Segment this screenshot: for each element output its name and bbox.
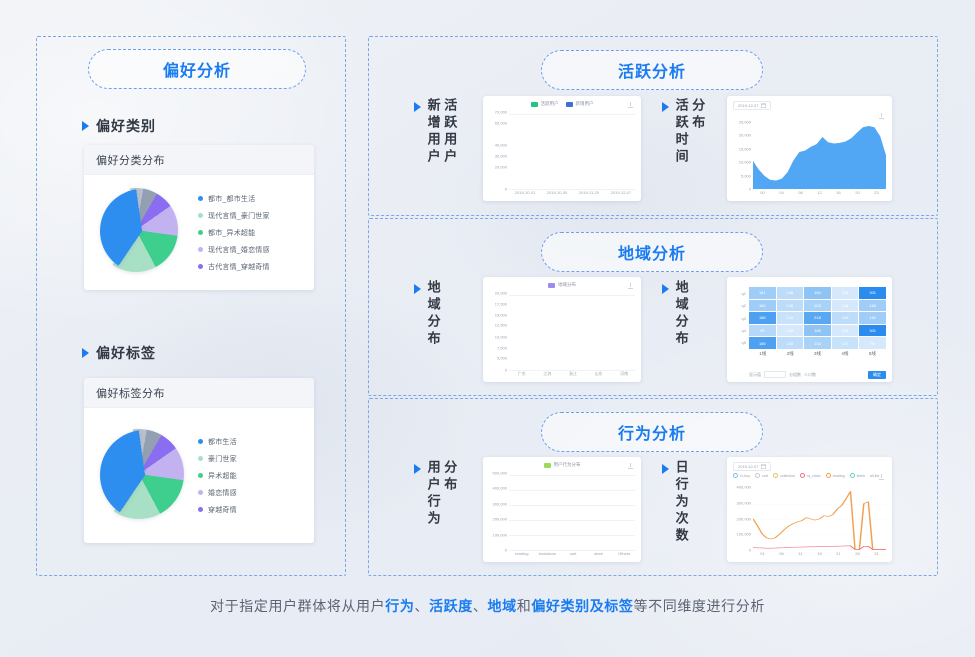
card-active-users-bar[interactable]: 活跃用户 新增用户 70,000 60,000 40,000 30,000 20… xyxy=(483,96,641,201)
bar-series xyxy=(509,475,635,550)
y-tick: 60,000 xyxy=(495,120,507,125)
x-label: 2线 xyxy=(776,351,803,360)
heat-cell: 184 xyxy=(804,287,831,299)
triangle-bullet-icon xyxy=(662,284,669,294)
chart-legend: 地域分布 xyxy=(483,282,641,288)
x-axis: reading bookstore cart store Others xyxy=(509,551,637,560)
x-tick: 浙江 xyxy=(560,371,586,380)
legend-item[interactable]: rq_close xyxy=(800,473,821,478)
legend-dot-icon xyxy=(773,473,778,478)
vlabel-active-time-distribution: 活跃时间 分布 xyxy=(662,98,704,166)
heat-cell: 163 xyxy=(804,300,831,312)
heat-cell: 118 xyxy=(832,300,859,312)
legend-dot-icon xyxy=(198,507,203,512)
legend-label: reading xyxy=(833,474,845,478)
y-tick: 300,000 xyxy=(737,500,751,505)
area-chart-active-time xyxy=(753,124,886,189)
plot-area xyxy=(753,489,886,550)
page-caption: 对于指定用户群体将从用户行为、活跃度、地域和偏好类别及标签等不同维度进行分析 xyxy=(0,596,975,616)
legend-dot-icon xyxy=(198,264,203,269)
heat-cell: 146 xyxy=(777,287,804,299)
card-behavior-line[interactable]: 2019-12-07 t1-buy cart collection rq_clo… xyxy=(727,457,892,562)
y-label: q5 xyxy=(730,337,748,349)
legend-label: 活跃用户 xyxy=(541,101,559,107)
y-tick: 15,000 xyxy=(495,312,507,317)
vlabel-col: 分布 xyxy=(443,460,457,528)
card-title: 偏好分类分布 xyxy=(84,145,314,175)
x-label: 4线 xyxy=(831,351,858,360)
y-label: q2 xyxy=(730,299,748,311)
heat-cell: 186 xyxy=(749,337,776,349)
chart-legend: t1-buy cart collection rq_close reading … xyxy=(733,473,886,478)
x-tick: 23 xyxy=(867,190,886,199)
x-tick: 河南 xyxy=(611,371,637,380)
heatmap-grid: 161 146 184 119 301 164 146 163 118 165 … xyxy=(749,287,886,349)
x-tick: bookstore xyxy=(535,551,561,560)
x-tick: 26 xyxy=(848,551,867,560)
legend-item[interactable]: all-list xyxy=(870,474,879,478)
legend-dot-icon xyxy=(198,473,203,478)
legend-dot-icon xyxy=(198,196,203,201)
caption-part: 、 xyxy=(414,598,429,614)
legend-dot-icon xyxy=(198,456,203,461)
x-tick: 16 xyxy=(829,190,848,199)
legend-item: 新增用户 xyxy=(566,101,594,107)
section-pill-region: 地域分析 xyxy=(541,232,763,272)
legend-swatch-icon xyxy=(531,102,538,107)
vertical-columns: 地域分布 xyxy=(674,280,688,348)
card-preference-category[interactable]: 偏好分类分布 都市_都市生活 现代言情_豪门世家 xyxy=(84,145,314,290)
x-label: 5线 xyxy=(859,351,886,360)
vertical-columns: 用户行为 分布 xyxy=(426,460,456,528)
heat-cell: 134 xyxy=(832,325,859,337)
heat-cell: 145 xyxy=(777,312,804,324)
vlabel-col: 用户行为 xyxy=(426,460,440,528)
legend-label: 婚恋情感 xyxy=(208,488,237,498)
x-tick: 31 xyxy=(867,551,886,560)
y-tick: 15,000 xyxy=(739,146,751,151)
vertical-columns: 活跃时间 分布 xyxy=(674,98,704,166)
legend-dot-icon xyxy=(198,230,203,235)
x-tick: 21 xyxy=(829,551,848,560)
x-tick: 山东 xyxy=(586,371,612,380)
vlabel-col: 活跃时间 xyxy=(674,98,688,166)
legend-label: 异术超能 xyxy=(208,471,237,481)
legend-label: rq_close xyxy=(807,474,821,478)
y-label: q3 xyxy=(730,312,748,324)
x-tick: 2019-10-01 xyxy=(509,190,541,199)
heatmap-controls: 显示值 分组数 人口数 确定 xyxy=(749,370,886,379)
vlabel-col: 地域分布 xyxy=(674,280,688,348)
legend-dot-icon xyxy=(733,473,738,478)
legend-item: 豪门世家 xyxy=(198,454,237,464)
y-tick: 17,500 xyxy=(495,301,507,306)
triangle-bullet-icon xyxy=(662,102,669,112)
legend-label: 现代言情_豪门世家 xyxy=(208,211,270,221)
heat-cell: 218 xyxy=(804,312,831,324)
legend-item: 地域分布 xyxy=(548,282,576,288)
y-tick: 10,000 xyxy=(495,334,507,339)
y-tick: 500,000 xyxy=(493,471,507,476)
legend-swatch-icon xyxy=(566,102,573,107)
vertical-columns: 日行为次数 xyxy=(674,460,688,545)
legend-swatch-icon xyxy=(548,283,555,288)
date-value: 2019-12-07 xyxy=(738,103,758,108)
y-label: q1 xyxy=(730,287,748,299)
legend-item: 活跃用户 xyxy=(531,101,559,107)
y-tick: 70,000 xyxy=(495,110,507,115)
plot-area xyxy=(509,295,635,370)
legend-dot-icon xyxy=(826,473,831,478)
heatmap-x-labels: 1线 2线 3线 4线 5线 xyxy=(749,351,886,360)
legend-dot-icon xyxy=(850,473,855,478)
plot-area xyxy=(753,124,886,189)
legend-label: 古代言情_穿越奇情 xyxy=(208,262,270,272)
x-axis: 2019-10-01 2019-10-30 2019-11-20 2019-12… xyxy=(509,190,637,199)
y-tick: 300,000 xyxy=(493,501,507,506)
heat-cell: 95 xyxy=(749,325,776,337)
x-tick: 20 xyxy=(848,190,867,199)
y-tick: 30,000 xyxy=(495,153,507,158)
vertical-columns: 新增用户 活跃用户 xyxy=(426,98,456,166)
triangle-bullet-icon xyxy=(82,121,89,131)
x-tick: reading xyxy=(509,551,535,560)
legend-label: 地域分布 xyxy=(558,282,576,288)
legend-label: 都市_都市生活 xyxy=(208,194,255,204)
bar-series xyxy=(509,114,635,189)
vlabel-col: 日行为次数 xyxy=(674,460,688,545)
pie-wrap: 都市生活 豪门世家 异术超能 婚恋情感 xyxy=(84,408,314,543)
legend-label: 穿越奇情 xyxy=(208,505,237,515)
calendar-icon xyxy=(761,103,766,108)
legend-item: 现代言情_婚恋情感 xyxy=(198,245,270,255)
download-icon[interactable] xyxy=(628,102,634,109)
triangle-bullet-icon xyxy=(414,102,421,112)
x-tick: 00 xyxy=(753,190,772,199)
heat-cell: 186 xyxy=(749,312,776,324)
legend-item[interactable]: collection xyxy=(773,473,795,478)
card-region-bar[interactable]: 地域分布 20,000 17,500 15,000 12,500 10,000 … xyxy=(483,277,641,382)
legend-label: collection xyxy=(780,474,795,478)
x-tick: store xyxy=(586,551,612,560)
x-label: 3线 xyxy=(804,351,831,360)
pie-slice-exploded xyxy=(100,430,190,520)
date-value: 2019-12-07 xyxy=(738,464,758,469)
caption-highlight: 活跃度 xyxy=(429,598,473,614)
section-pill-behavior: 行为分析 xyxy=(541,412,763,452)
y-tick: 0 xyxy=(749,187,751,192)
heat-cell: 165 xyxy=(859,300,886,312)
y-axis: 20,000 17,500 15,000 12,500 10,000 7,500… xyxy=(486,293,508,370)
heat-cell: 301 xyxy=(859,287,886,299)
y-tick: 20,000 xyxy=(739,133,751,138)
heat-cell: 186 xyxy=(804,325,831,337)
triangle-bullet-icon xyxy=(82,348,89,358)
y-axis: 25,000 20,000 15,000 10,000 5,000 0 xyxy=(730,122,752,189)
triangle-bullet-icon xyxy=(414,464,421,474)
legend-item: 都市_异术超能 xyxy=(198,228,270,238)
x-tick: Others xyxy=(611,551,637,560)
x-tick: 2019-12-07 xyxy=(605,190,637,199)
caption-highlight: 偏好类别及标签 xyxy=(531,598,633,614)
y-tick: 12,500 xyxy=(495,323,507,328)
legend-label: finish xyxy=(857,474,865,478)
y-tick: 7,500 xyxy=(497,345,507,350)
vlabel-new-active-users: 新增用户 活跃用户 xyxy=(414,98,456,166)
x-tick: 11 xyxy=(791,551,810,560)
legend-dot-icon xyxy=(198,439,203,444)
section-pill-active: 活跃分析 xyxy=(541,50,763,90)
heat-cell: 145 xyxy=(777,337,804,349)
caption-highlight: 地域 xyxy=(488,598,517,614)
legend-item: 穿越奇情 xyxy=(198,505,237,515)
y-tick: 400,000 xyxy=(737,485,751,490)
vlabel-col: 活跃用户 xyxy=(443,98,457,166)
x-axis: 01 06 11 16 21 26 31 xyxy=(753,551,886,560)
x-tick: 2019-11-20 xyxy=(573,190,605,199)
x-tick: 16 xyxy=(810,551,829,560)
y-tick: 200,000 xyxy=(737,516,751,521)
x-tick: 广东 xyxy=(509,371,535,380)
legend-item: 婚恋情感 xyxy=(198,488,237,498)
caption-part: 和 xyxy=(517,598,532,614)
y-tick: 20,000 xyxy=(495,291,507,296)
poster-stage: 偏好分析 偏好类别 偏好分类分布 都市_都市生活 现代言情_豪门 xyxy=(0,0,975,657)
y-tick: 100,000 xyxy=(737,532,751,537)
caption-highlight: 行为 xyxy=(385,598,414,614)
legend-item[interactable]: t1-buy xyxy=(733,473,750,478)
heat-cell: 162 xyxy=(859,312,886,324)
control-input[interactable]: 人口数 xyxy=(804,372,816,378)
download-icon[interactable] xyxy=(628,463,634,470)
card-behavior-bar[interactable]: 用户行为分布 500,000 400,000 300,000 200,000 1… xyxy=(483,457,641,562)
y-axis: 500,000 400,000 300,000 200,000 100,000 … xyxy=(486,473,508,550)
heat-cell: 119 xyxy=(832,287,859,299)
heat-cell: 147 xyxy=(832,337,859,349)
y-tick: 25,000 xyxy=(739,120,751,125)
card-title: 偏好标签分布 xyxy=(84,378,314,408)
heading-label: 偏好类别 xyxy=(96,116,156,136)
legend-label: all-list xyxy=(870,474,879,478)
vlabel-region-distribution-right: 地域分布 xyxy=(662,280,688,348)
y-tick: 200,000 xyxy=(493,517,507,522)
chart-legend: 活跃用户 新增用户 xyxy=(483,101,641,107)
vlabel-daily-behavior-count: 日行为次数 xyxy=(662,460,688,545)
heading-preference-category: 偏好类别 xyxy=(82,116,156,136)
legend-item: 古代言情_穿越奇情 xyxy=(198,262,270,272)
x-label: 1线 xyxy=(749,351,776,360)
x-tick: 2019-10-30 xyxy=(541,190,573,199)
vlabel-col: 分布 xyxy=(691,98,705,166)
legend-dot-icon xyxy=(198,213,203,218)
x-axis: 00 04 08 12 16 20 23 xyxy=(753,190,886,199)
pie-wrap: 都市_都市生活 现代言情_豪门世家 都市_异术超能 现代言情_婚恋情感 xyxy=(84,175,314,290)
pie-container xyxy=(84,175,192,290)
legend-label: 新增用户 xyxy=(576,101,594,107)
heat-cell: 148 xyxy=(777,325,804,337)
legend-item[interactable]: cart xyxy=(755,473,768,478)
heading-label: 偏好标签 xyxy=(96,343,156,363)
vlabel-col: 地域分布 xyxy=(426,280,440,348)
caption-part: 、 xyxy=(473,598,488,614)
heat-cell: 161 xyxy=(749,287,776,299)
vlabel-region-distribution-left: 地域分布 xyxy=(414,280,440,348)
y-tick: 0 xyxy=(505,187,507,192)
legend-label: 都市_异术超能 xyxy=(208,228,255,238)
legend-label: t1-buy xyxy=(740,474,750,478)
caption-part: 对于指定用户群体将从用户 xyxy=(210,598,385,614)
heat-cell: 146 xyxy=(832,312,859,324)
legend-item[interactable]: reading xyxy=(826,473,845,478)
card-region-heatmap[interactable]: q1 q2 q3 q4 q5 161 146 184 119 301 164 1… xyxy=(727,277,892,382)
legend-label: 豪门世家 xyxy=(208,454,237,464)
legend-item: 都市_都市生活 xyxy=(198,194,270,204)
y-tick: 0 xyxy=(505,548,507,553)
pie-container xyxy=(84,408,192,543)
y-tick: 5,000 xyxy=(497,356,507,361)
legend-label: 用户行为分布 xyxy=(554,462,581,468)
plot-area xyxy=(509,475,635,550)
x-tick: 08 xyxy=(791,190,810,199)
heat-cell: 301 xyxy=(859,325,886,337)
confirm-button[interactable]: 确定 xyxy=(868,371,886,379)
date-picker[interactable]: 2019-12-07 xyxy=(733,101,771,110)
pie-legend-category: 都市_都市生活 现代言情_豪门世家 都市_异术超能 现代言情_婚恋情感 xyxy=(192,194,270,272)
vlabel-col: 新增用户 xyxy=(426,98,440,166)
y-axis: 70,000 60,000 40,000 30,000 20,000 0 xyxy=(486,112,508,189)
chart-legend: 用户行为分布 xyxy=(483,462,641,468)
x-tick: 12 xyxy=(810,190,829,199)
legend-item: 用户行为分布 xyxy=(544,462,581,468)
bar-series xyxy=(509,295,635,370)
legend-swatch-icon xyxy=(544,463,551,468)
caption-part: 等不同维度进行分析 xyxy=(634,598,765,614)
legend-dot-icon xyxy=(755,473,760,478)
y-tick: 40,000 xyxy=(495,143,507,148)
legend-item: 都市生活 xyxy=(198,437,237,447)
download-icon[interactable] xyxy=(628,283,634,290)
y-tick: 5,000 xyxy=(741,173,751,178)
date-picker[interactable]: 2019-12-07 xyxy=(733,462,771,471)
x-tick: 06 xyxy=(772,551,791,560)
pie-legend-tag: 都市生活 豪门世家 异术超能 婚恋情感 xyxy=(192,437,237,515)
legend-dot-icon xyxy=(198,247,203,252)
pie-slice-exploded xyxy=(100,189,184,273)
heat-cell: 99 xyxy=(859,337,886,349)
control-label: 分组数 xyxy=(789,372,801,378)
x-tick: 04 xyxy=(772,190,791,199)
y-tick: 0 xyxy=(749,548,751,553)
y-tick: 20,000 xyxy=(495,164,507,169)
plot-area xyxy=(509,114,635,189)
triangle-bullet-icon xyxy=(662,464,669,474)
vlabel-user-behavior-distribution: 用户行为 分布 xyxy=(414,460,456,528)
card-active-time-area[interactable]: 2019-12-07 25,000 20,000 15,000 10,000 5… xyxy=(727,96,892,201)
legend-label: cart xyxy=(762,474,768,478)
triangle-bullet-icon xyxy=(414,284,421,294)
x-tick: 江苏 xyxy=(535,371,561,380)
x-axis: 广东 江苏 浙江 山东 河南 xyxy=(509,371,637,380)
heatmap-y-labels: q1 q2 q3 q4 q5 xyxy=(730,287,748,349)
legend-item[interactable]: finish xyxy=(850,473,865,478)
heat-cell: 146 xyxy=(777,300,804,312)
legend-dot-icon xyxy=(198,490,203,495)
download-icon[interactable] xyxy=(879,474,885,481)
x-tick: 01 xyxy=(753,551,772,560)
y-tick: 10,000 xyxy=(739,160,751,165)
calendar-icon xyxy=(761,464,766,469)
legend-label: 现代言情_婚恋情感 xyxy=(208,245,270,255)
y-tick: 0 xyxy=(505,368,507,373)
vertical-columns: 地域分布 xyxy=(426,280,440,348)
card-body: 都市生活 豪门世家 异术超能 婚恋情感 xyxy=(84,408,314,543)
y-label: q4 xyxy=(730,324,748,336)
legend-item: 现代言情_豪门世家 xyxy=(198,211,270,221)
card-body: 都市_都市生活 现代言情_豪门世家 都市_异术超能 现代言情_婚恋情感 xyxy=(84,175,314,290)
y-tick: 100,000 xyxy=(493,532,507,537)
y-tick: 400,000 xyxy=(493,486,507,491)
legend-item: 异术超能 xyxy=(198,471,237,481)
control-label: 显示值 xyxy=(749,372,761,378)
heat-cell: 134 xyxy=(804,337,831,349)
legend-label: 都市生活 xyxy=(208,437,237,447)
download-icon[interactable] xyxy=(879,113,885,120)
group-select[interactable] xyxy=(764,371,786,378)
card-preference-tag[interactable]: 偏好标签分布 都市生活 豪门世家 xyxy=(84,378,314,543)
legend-dot-icon xyxy=(800,473,805,478)
y-axis: 400,000 300,000 200,000 100,000 0 xyxy=(730,487,752,550)
heading-preference-tag: 偏好标签 xyxy=(82,343,156,363)
line-chart-behavior xyxy=(753,489,886,550)
heat-cell: 164 xyxy=(749,300,776,312)
section-pill-preference: 偏好分析 xyxy=(88,49,306,89)
x-tick: cart xyxy=(560,551,586,560)
